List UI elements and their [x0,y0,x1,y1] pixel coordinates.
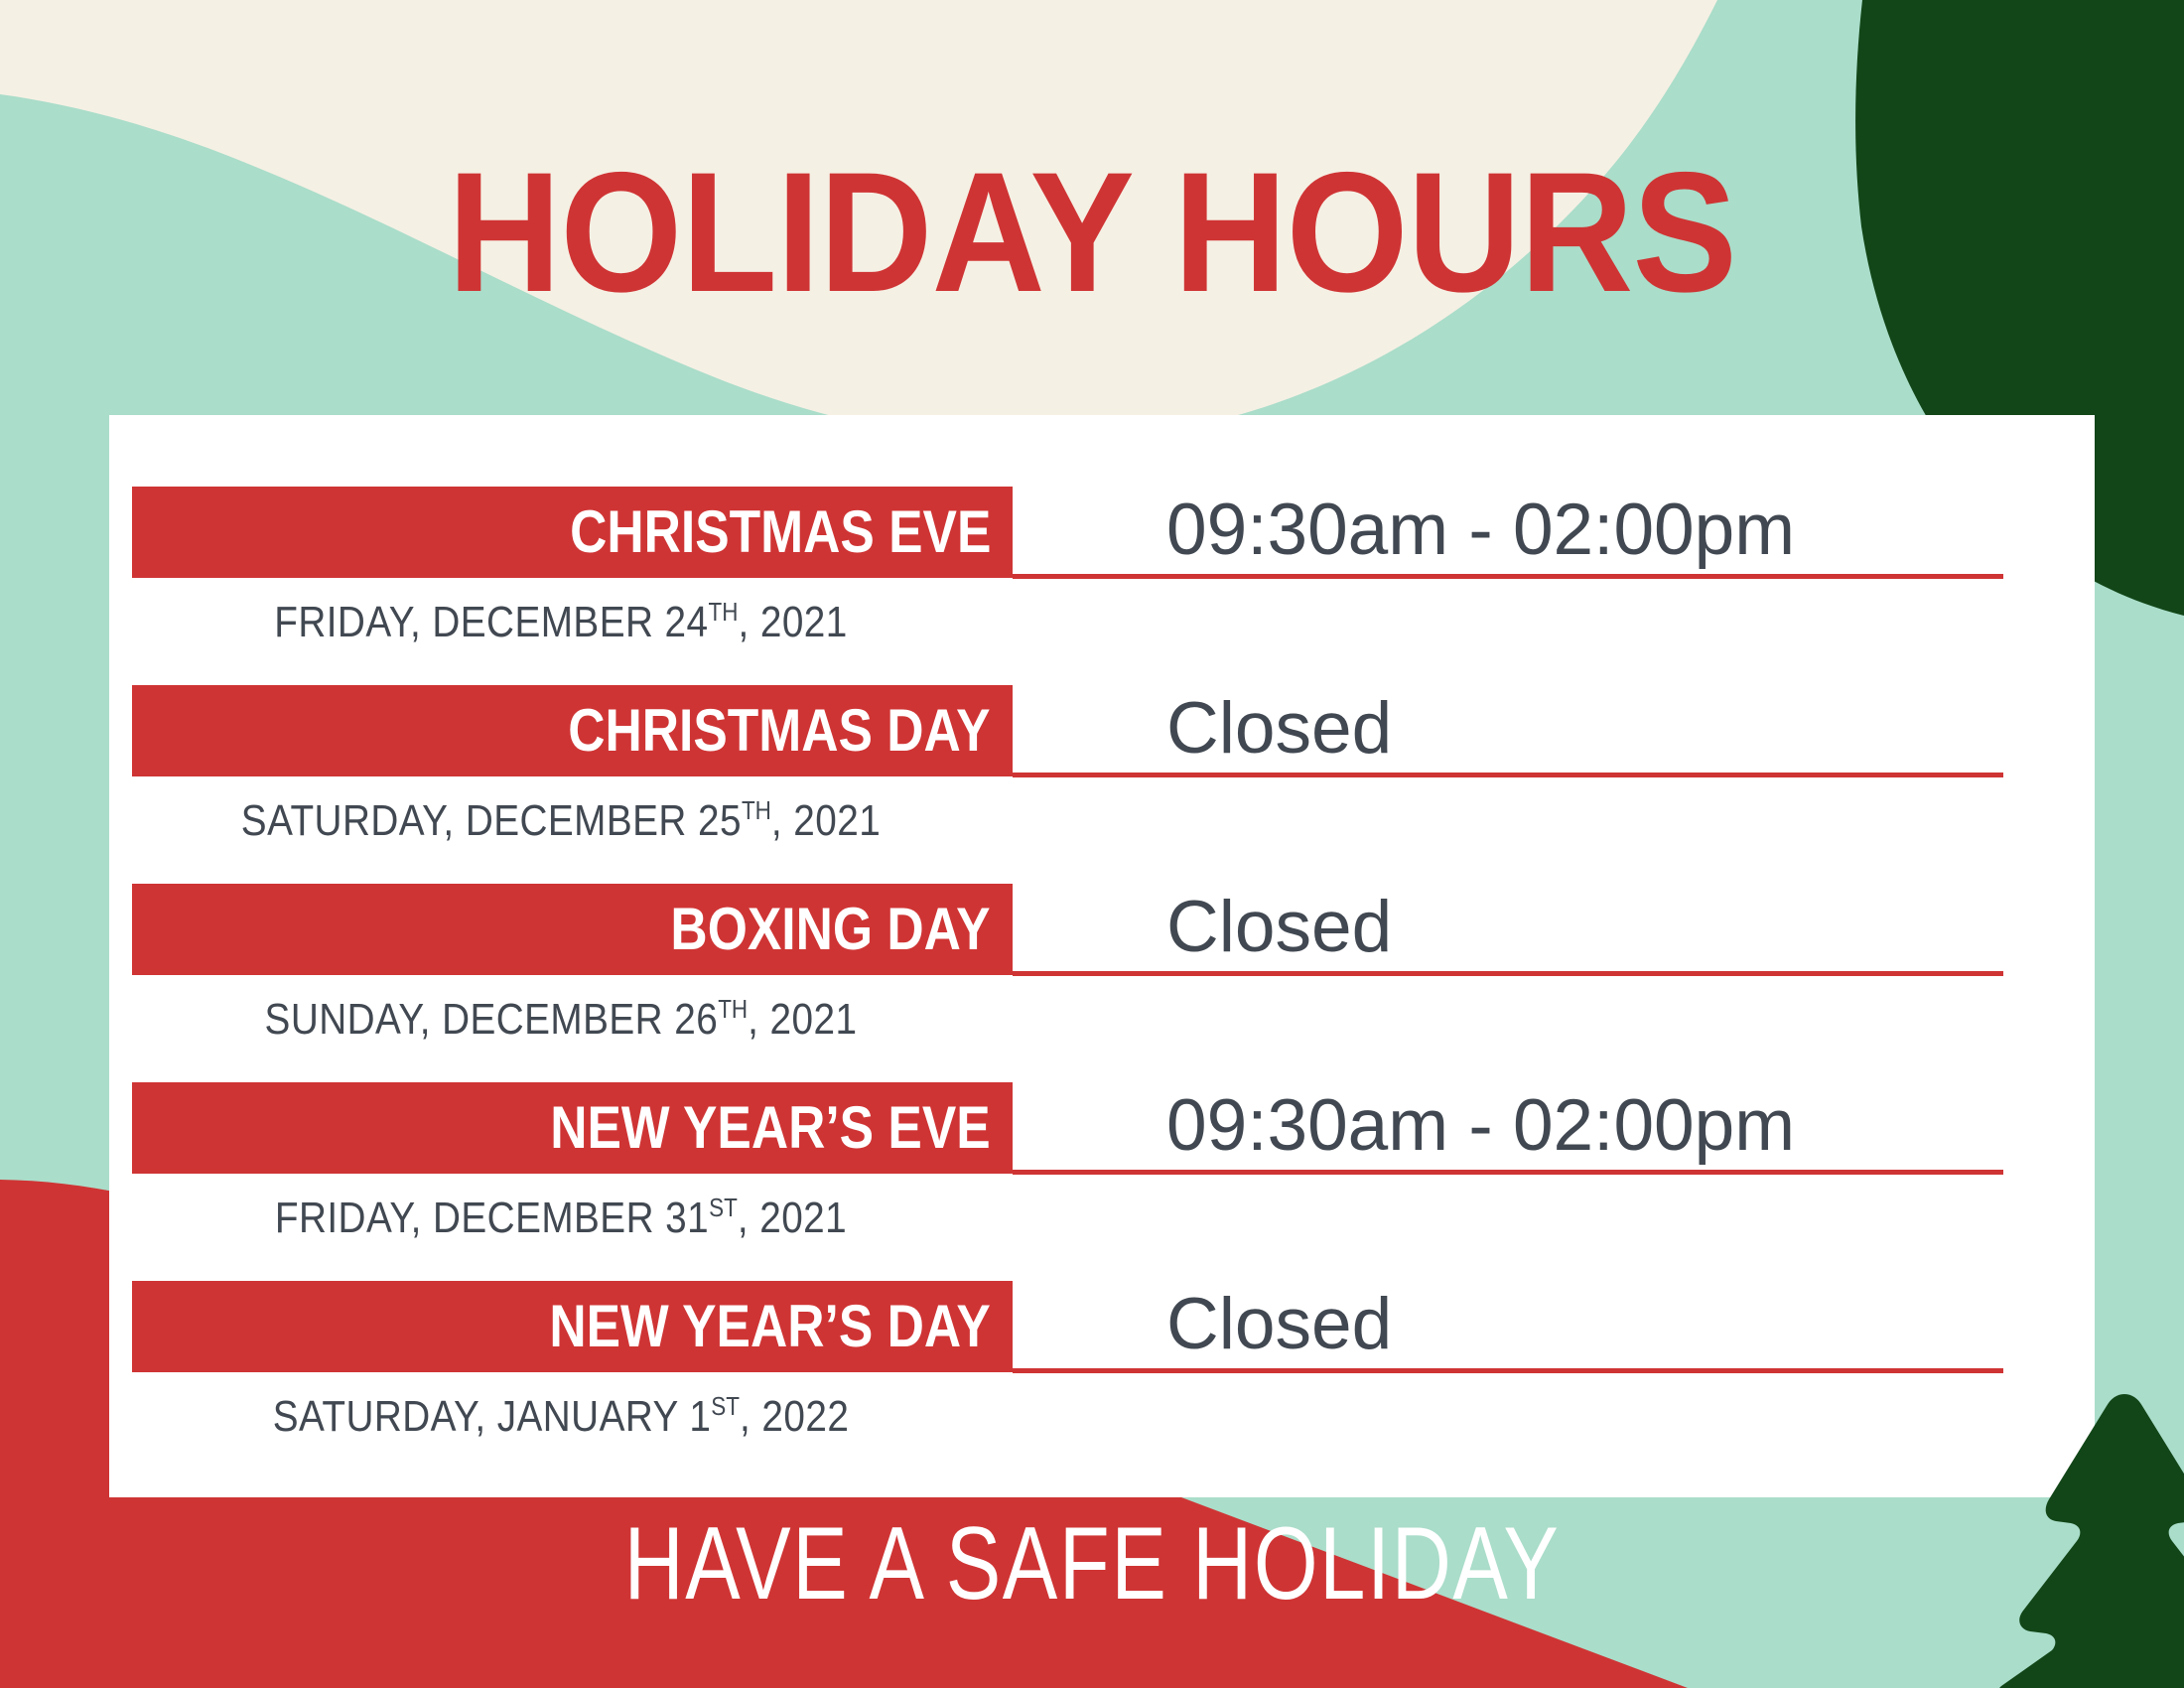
holiday-date-label: FRIDAY, DECEMBER 31ST, 2021 [164,1178,959,1249]
holiday-date-prefix: FRIDAY, DECEMBER 31 [275,1194,709,1242]
holiday-date-suffix: , 2021 [738,1194,847,1242]
tree-trunk [2109,1682,2140,1688]
holiday-name-label: BOXING DAY [671,900,991,959]
holiday-name-label: NEW YEAR’S DAY [550,1297,991,1356]
holiday-hours-poster: HOLIDAY HOURS CHRISTMAS EVE FRIDAY, DECE… [0,0,2184,1688]
holiday-date-suffix: , 2021 [771,796,881,845]
schedule-row: CHRISTMAS DAY SATURDAY, DECEMBER 25TH, 2… [109,685,2095,886]
holiday-date-ordinal: ST [711,1393,740,1421]
holiday-date-prefix: FRIDAY, DECEMBER 24 [274,598,708,646]
holiday-date-prefix: SATURDAY, JANUARY 1 [273,1392,712,1441]
holiday-name-label: NEW YEAR’S EVE [551,1098,991,1158]
holiday-date-prefix: SUNDAY, DECEMBER 26 [265,995,719,1044]
holiday-date-label: SATURDAY, JANUARY 1ST, 2022 [164,1376,959,1448]
holiday-date-suffix: , 2022 [740,1392,849,1441]
holiday-date-label: FRIDAY, DECEMBER 24TH, 2021 [164,582,959,653]
holiday-name-banner: BOXING DAY [132,884,1013,975]
row-underline [1013,971,2003,976]
row-underline [1013,574,2003,579]
page-title: HOLIDAY HOURS [87,147,2097,318]
holiday-date-ordinal: ST [709,1195,738,1222]
holiday-date-suffix: , 2021 [738,598,847,646]
holiday-date-ordinal: TH [742,797,771,825]
holiday-name-banner: CHRISTMAS EVE [132,487,1013,578]
holiday-name-label: CHRISTMAS EVE [570,502,991,562]
schedule-row: CHRISTMAS EVE FRIDAY, DECEMBER 24TH, 202… [109,487,2095,687]
holiday-hours-value: 09:30am - 02:00pm [1166,489,2030,572]
holiday-name-banner: CHRISTMAS DAY [132,685,1013,776]
schedule-card: CHRISTMAS EVE FRIDAY, DECEMBER 24TH, 202… [109,415,2095,1497]
holiday-date-ordinal: TH [709,599,739,627]
schedule-row: NEW YEAR’S DAY SATURDAY, JANUARY 1ST, 20… [109,1281,2095,1481]
holiday-date-prefix: SATURDAY, DECEMBER 25 [241,796,742,845]
footer-message: HAVE A SAFE HOLIDAY [218,1512,1966,1616]
holiday-hours-value: Closed [1166,886,2030,969]
row-underline [1013,773,2003,777]
holiday-hours-value: Closed [1166,687,2030,771]
row-underline [1013,1368,2003,1373]
holiday-date-label: SATURDAY, DECEMBER 25TH, 2021 [164,780,959,852]
christmas-tree-icon [1976,1388,2184,1688]
schedule-row: BOXING DAY SUNDAY, DECEMBER 26TH, 2021 C… [109,884,2095,1084]
holiday-date-label: SUNDAY, DECEMBER 26TH, 2021 [164,979,959,1051]
holiday-name-banner: NEW YEAR’S DAY [132,1281,1013,1372]
holiday-date-ordinal: TH [718,996,748,1024]
holiday-date-suffix: , 2021 [748,995,857,1044]
row-underline [1013,1170,2003,1175]
holiday-name-label: CHRISTMAS DAY [569,701,991,761]
holiday-hours-value: 09:30am - 02:00pm [1166,1084,2030,1168]
schedule-row: NEW YEAR’S EVE FRIDAY, DECEMBER 31ST, 20… [109,1082,2095,1283]
holiday-hours-value: Closed [1166,1283,2030,1366]
holiday-name-banner: NEW YEAR’S EVE [132,1082,1013,1174]
